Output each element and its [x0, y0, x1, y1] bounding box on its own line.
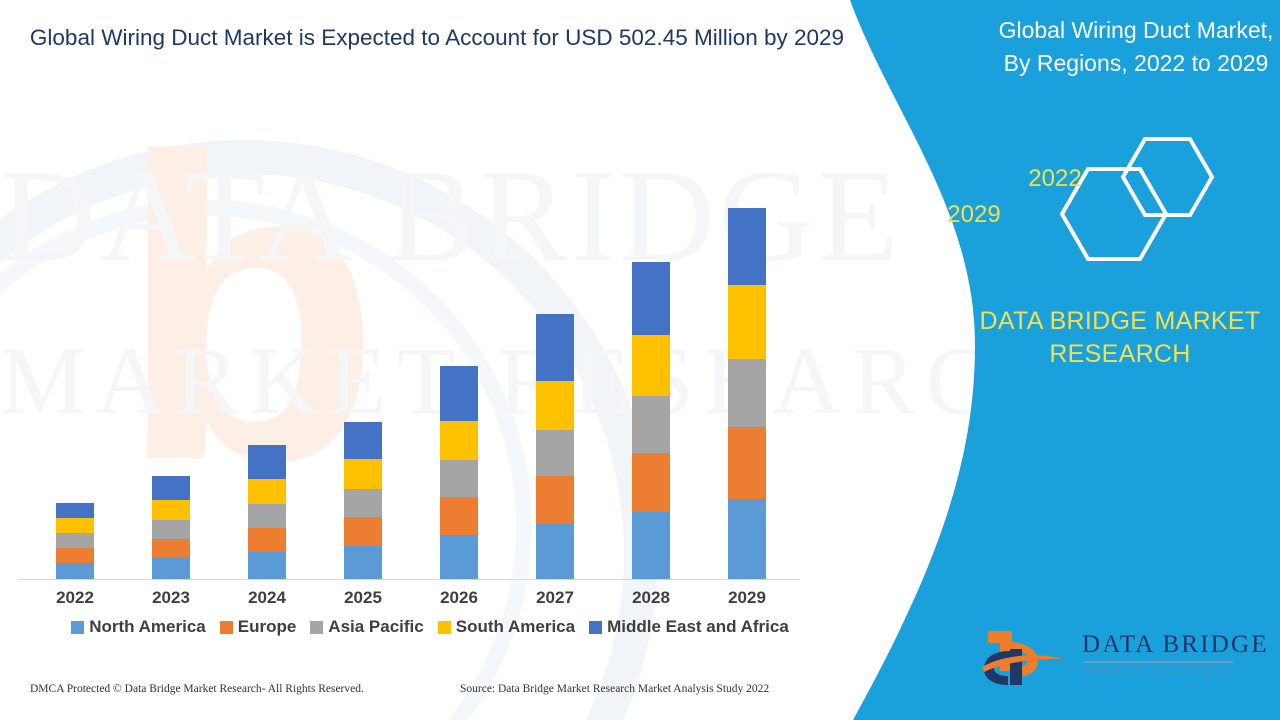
chart-legend: North AmericaEuropeAsia PacificSouth Ame… [0, 617, 860, 637]
bar-segment [440, 366, 478, 421]
legend-label: North America [89, 617, 206, 637]
side-panel: Global Wiring Duct Market, By Regions, 2… [820, 0, 1280, 720]
legend-label: Middle East and Africa [607, 617, 789, 637]
bar-segment [536, 524, 574, 579]
bar-segment [152, 500, 190, 520]
dbmr-logo-mark-icon [980, 625, 1076, 687]
bar-segment [632, 396, 670, 453]
legend-swatch-icon [310, 621, 323, 634]
bar-2029[interactable] [728, 208, 766, 579]
chart-baseline-axis [18, 579, 800, 580]
bar-segment [152, 476, 190, 500]
bar-segment [344, 489, 382, 517]
bar-2022[interactable] [56, 503, 94, 579]
bar-segment [728, 208, 766, 285]
bar-2024[interactable] [248, 445, 286, 579]
bar-segment [56, 503, 94, 518]
bar-segment [440, 421, 478, 460]
bar-2023[interactable] [152, 476, 190, 579]
hexagon-front-label: 2029 [914, 201, 1034, 229]
logo-sub-text: MARKET RESEARCH [1082, 666, 1269, 676]
legend-swatch-icon [71, 621, 84, 634]
bar-segment [248, 528, 286, 552]
x-axis-label-2023: 2023 [136, 588, 206, 608]
bar-segment [344, 459, 382, 489]
legend-item[interactable]: North America [71, 617, 206, 637]
bar-segment [248, 552, 286, 579]
legend-item[interactable]: Europe [220, 617, 297, 637]
page-title: Global Wiring Duct Market is Expected to… [14, 22, 860, 54]
bar-2026[interactable] [440, 366, 478, 579]
bar-segment [344, 422, 382, 459]
bar-segment [248, 445, 286, 479]
bar-segment [536, 381, 574, 430]
x-axis-label-2025: 2025 [328, 588, 398, 608]
bar-segment [152, 520, 190, 539]
hexagon-badges: 2022 2029 [940, 135, 1280, 280]
bar-2025[interactable] [344, 422, 382, 579]
x-axis-label-2022: 2022 [40, 588, 110, 608]
footer: DMCA Protected © Data Bridge Market Rese… [0, 683, 860, 707]
legend-item[interactable]: Middle East and Africa [589, 617, 789, 637]
panel-title: Global Wiring Duct Market, By Regions, 2… [996, 14, 1276, 79]
legend-label: Asia Pacific [328, 617, 423, 637]
x-axis-label-2024: 2024 [232, 588, 302, 608]
infographic-root: b DATA BRIDGE MARKET RESEARCH Global Wir… [0, 0, 1280, 720]
bar-segment [632, 335, 670, 396]
logo-wordmark: DATA BRIDGE MARKET RESEARCH [1082, 631, 1269, 676]
x-axis-labels: 20222023202420252026202720282029 [0, 588, 860, 616]
legend-item[interactable]: South America [438, 617, 575, 637]
legend-swatch-icon [220, 621, 233, 634]
bar-segment [536, 314, 574, 381]
x-axis-label-2026: 2026 [424, 588, 494, 608]
x-axis-label-2029: 2029 [712, 588, 782, 608]
legend-label: South America [456, 617, 575, 637]
bar-2027[interactable] [536, 314, 574, 579]
bar-segment [728, 427, 766, 499]
bar-segment [56, 563, 94, 579]
bar-segment [248, 504, 286, 528]
bar-segment [728, 285, 766, 359]
bar-segment [152, 539, 190, 558]
bar-segment [344, 546, 382, 579]
bar-segment [632, 262, 670, 335]
logo-divider [1083, 661, 1233, 663]
brand-name: DATA BRIDGE MARKET RESEARCH [970, 305, 1270, 370]
bar-segment [56, 518, 94, 533]
legend-swatch-icon [438, 621, 451, 634]
bar-segment [56, 548, 94, 563]
stacked-bar-chart [0, 150, 860, 580]
hexagon-back-icon [1123, 139, 1212, 215]
bar-segment [440, 535, 478, 579]
bar-segment [440, 460, 478, 497]
bar-segment [56, 533, 94, 548]
bar-segment [248, 479, 286, 504]
logo-main-text: DATA BRIDGE [1082, 631, 1269, 659]
x-axis-label-2027: 2027 [520, 588, 590, 608]
bar-segment [728, 359, 766, 427]
source-note: Source: Data Bridge Market Research Mark… [460, 683, 769, 695]
bar-segment [632, 512, 670, 579]
legend-label: Europe [238, 617, 297, 637]
legend-item[interactable]: Asia Pacific [310, 617, 423, 637]
dmca-notice: DMCA Protected © Data Bridge Market Rese… [30, 683, 364, 695]
bar-2028[interactable] [632, 262, 670, 579]
bar-segment [344, 517, 382, 546]
legend-swatch-icon [589, 621, 602, 634]
bar-segment [440, 497, 478, 535]
bar-segment [536, 430, 574, 476]
bar-segment [728, 499, 766, 579]
company-logo: DATA BRIDGE MARKET RESEARCH [980, 625, 1270, 695]
x-axis-label-2028: 2028 [616, 588, 686, 608]
hexagon-back-label: 2022 [995, 165, 1115, 193]
bar-segment [536, 476, 574, 524]
panel-content: Global Wiring Duct Market, By Regions, 2… [820, 0, 1280, 720]
bar-segment [152, 558, 190, 579]
bar-segment [632, 453, 670, 512]
